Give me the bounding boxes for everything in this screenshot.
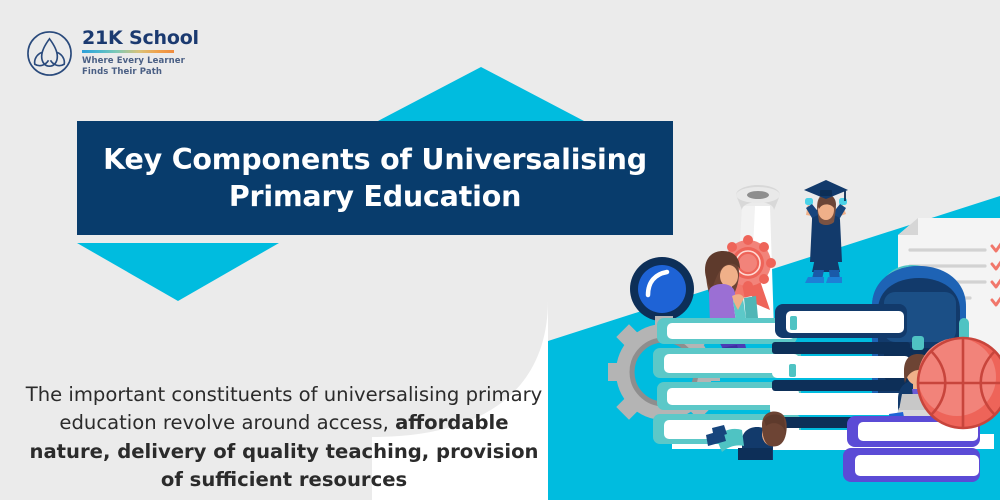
lotus-circle-icon	[26, 30, 73, 77]
page-title: Key Components of Universalising Primary…	[103, 141, 647, 215]
logo-gradient-rule	[82, 50, 174, 53]
triangle-up-icon	[378, 67, 584, 121]
logo-tagline-line2: Finds Their Path	[82, 67, 162, 77]
triangle-down-icon	[77, 243, 279, 301]
infographic-canvas: Key Components of Universalising Primary…	[0, 0, 1000, 500]
logo-tagline: Where Every Learner Finds Their Path	[82, 56, 199, 77]
logo-name: 21K School	[82, 29, 199, 48]
brand-logo[interactable]: 21K School Where Every Learner Finds The…	[26, 29, 199, 77]
logo-tagline-line1: Where Every Learner	[82, 56, 185, 66]
title-banner: Key Components of Universalising Primary…	[77, 121, 673, 235]
description-text: The important constituents of universali…	[16, 381, 552, 495]
logo-text-block: 21K School Where Every Learner Finds The…	[82, 29, 199, 77]
